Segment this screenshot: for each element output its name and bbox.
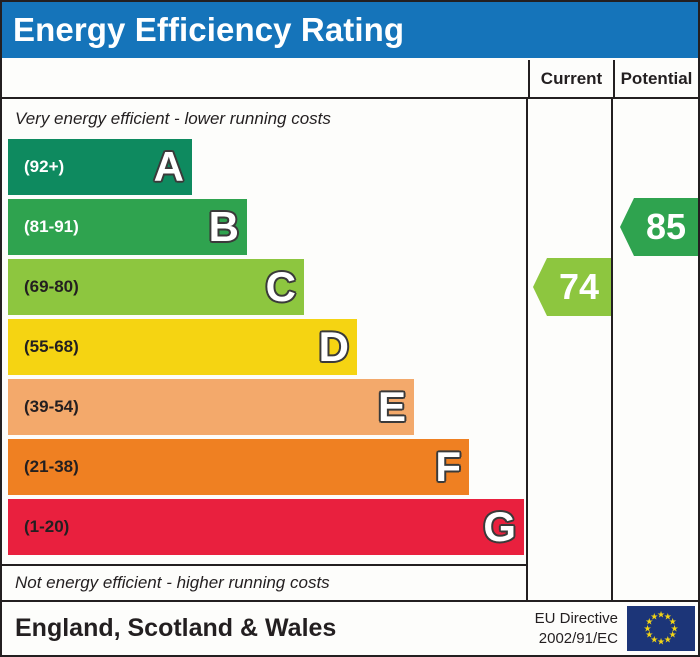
column-header-potential: Potential <box>613 60 698 97</box>
caption-bottom: Not energy efficient - higher running co… <box>2 565 526 600</box>
band-letter-e: E <box>378 386 406 428</box>
eu-directive-text: EU Directive 2002/91/EC <box>535 609 627 648</box>
band-letter-c: C <box>266 266 296 308</box>
column-header-current: Current <box>528 60 613 97</box>
band-g: (1-20)G <box>8 499 524 555</box>
caption-top: Very energy efficient - lower running co… <box>2 101 526 136</box>
rating-badge-current: 74 <box>533 258 611 316</box>
column-header-row: Current Potential <box>2 60 698 99</box>
band-letter-d: D <box>319 326 349 368</box>
eu-directive-line2: 2002/91/EC <box>535 629 618 649</box>
band-range-e: (39-54) <box>8 397 79 417</box>
band-b: (81-91)B <box>8 199 247 255</box>
band-range-a: (92+) <box>8 157 64 177</box>
eu-flag-star: ★ <box>650 612 658 621</box>
footer: England, Scotland & Wales EU Directive 2… <box>2 600 698 655</box>
rating-value-potential: 85 <box>632 209 686 245</box>
band-range-b: (81-91) <box>8 217 79 237</box>
band-letter-a: A <box>154 146 184 188</box>
eu-directive-line1: EU Directive <box>535 609 618 629</box>
band-letter-g: G <box>483 506 516 548</box>
title-bar: Energy Efficiency Rating <box>2 2 698 58</box>
band-range-f: (21-38) <box>8 457 79 477</box>
eu-flag-icon: ★★★★★★★★★★★★ <box>627 606 695 651</box>
rating-value-current: 74 <box>545 269 599 305</box>
energy-efficiency-rating-chart: Energy Efficiency Rating Current Potenti… <box>0 0 700 657</box>
footer-region-label: England, Scotland & Wales <box>2 614 336 643</box>
band-d: (55-68)D <box>8 319 357 375</box>
band-f: (21-38)F <box>8 439 469 495</box>
band-letter-b: B <box>209 206 239 248</box>
band-c: (69-80)C <box>8 259 304 315</box>
band-range-d: (55-68) <box>8 337 79 357</box>
band-e: (39-54)E <box>8 379 414 435</box>
column-divider-potential <box>611 99 613 600</box>
band-letter-f: F <box>435 446 461 488</box>
band-a: (92+)A <box>8 139 192 195</box>
band-range-c: (69-80) <box>8 277 79 297</box>
page-title: Energy Efficiency Rating <box>2 11 404 49</box>
band-range-g: (1-20) <box>8 517 69 537</box>
footer-directive-block: EU Directive 2002/91/EC ★★★★★★★★★★★★ <box>535 605 695 652</box>
rating-badge-potential: 85 <box>620 198 698 256</box>
column-divider-current <box>526 99 528 600</box>
chart-area: Very energy efficient - lower running co… <box>2 99 698 600</box>
